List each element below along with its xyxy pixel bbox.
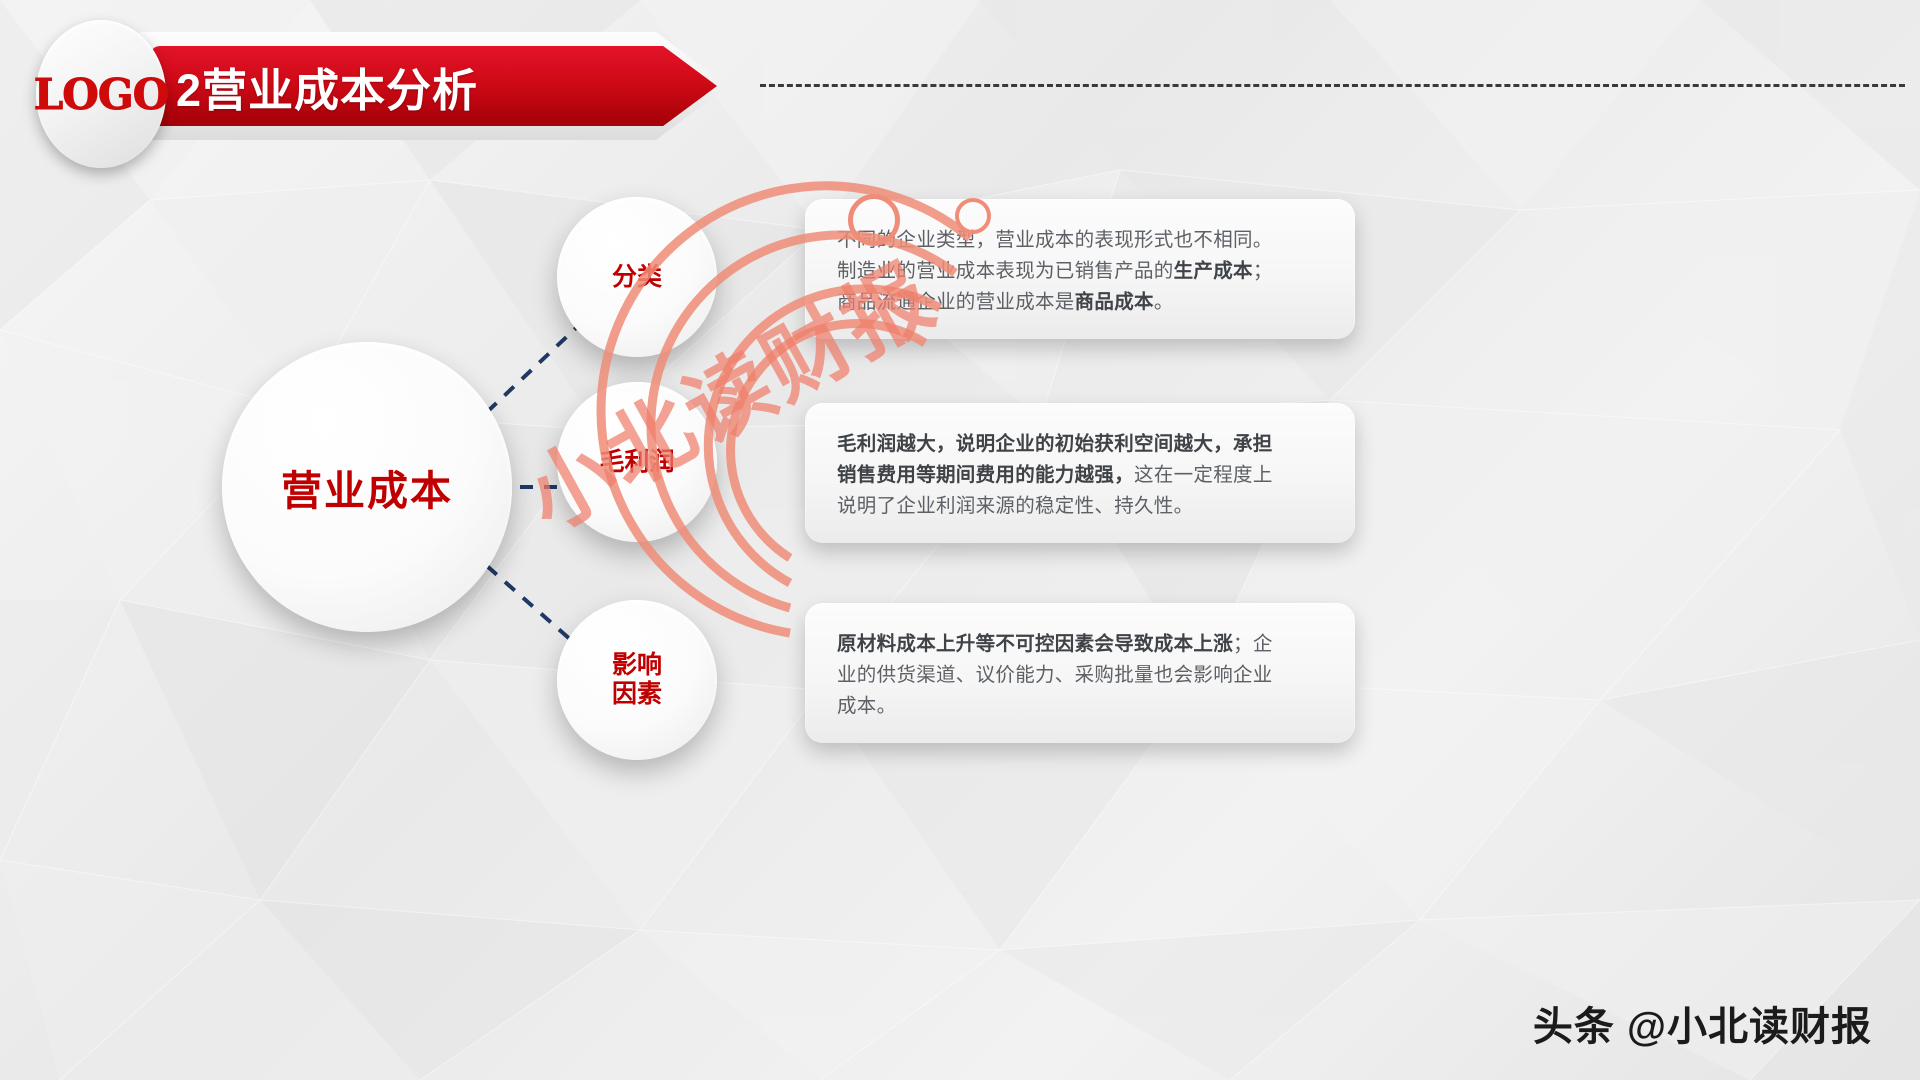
connector-to-factor <box>487 566 580 648</box>
logo-text: LOGO <box>34 70 169 119</box>
watermark-circle-large-icon <box>848 194 900 246</box>
connector-to-class <box>487 328 576 412</box>
node-classification[interactable]: 分类 <box>557 197 717 357</box>
center-node-operating-cost[interactable]: 营业成本 <box>222 342 512 632</box>
info-card-factors[interactable]: 原材料成本上升等不可控因素会导致成本上涨；企业的供货渠道、议价能力、采购批量也会… <box>805 603 1355 743</box>
info-card-factors-body: 原材料成本上升等不可控因素会导致成本上涨；企业的供货渠道、议价能力、采购批量也会… <box>837 629 1325 722</box>
node-classification-label: 分类 <box>612 263 662 292</box>
node-influencing-factors[interactable]: 影响 因素 <box>557 600 717 760</box>
node-gross-profit[interactable]: 毛利润 <box>557 382 717 542</box>
node-gross-profit-label: 毛利润 <box>599 448 674 477</box>
info-card-classification-body: 不同的企业类型，营业成本的表现形式也不相同。制造业的营业成本表现为已销售产品的生… <box>837 225 1325 318</box>
info-card-gross-profit[interactable]: 毛利润越大，说明企业的初始获利空间越大，承担销售费用等期间费用的能力越强，这在一… <box>805 403 1355 543</box>
watermark-circle-small-icon <box>955 198 991 234</box>
logo-badge[interactable]: LOGO <box>36 20 166 168</box>
center-node-label: 营业成本 <box>281 457 453 517</box>
footer-brand: 头条 @小北读财报 <box>1533 994 1872 1052</box>
info-card-gross-profit-body: 毛利润越大，说明企业的初始获利空间越大，承担销售费用等期间费用的能力越强，这在一… <box>837 429 1325 522</box>
node-influencing-factors-label: 影响 因素 <box>612 651 662 709</box>
